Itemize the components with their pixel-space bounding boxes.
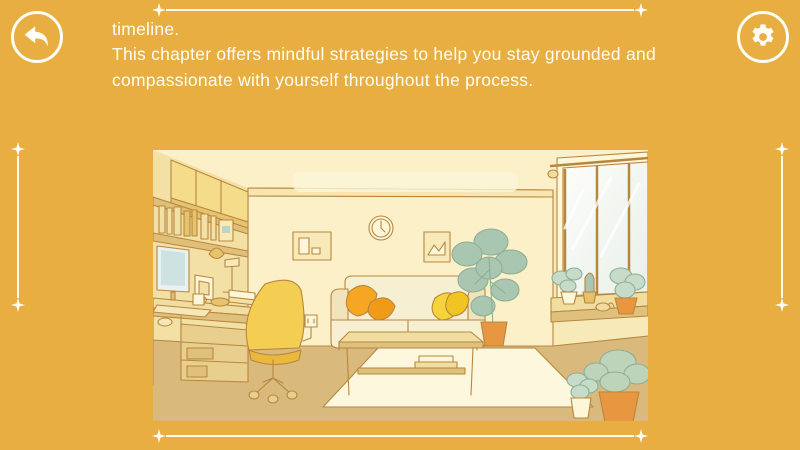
tidy-living-room-illustration (153, 150, 648, 421)
divider-line (17, 156, 19, 298)
star-icon (775, 298, 789, 312)
divider-line (166, 9, 634, 11)
paragraph: This chapter offers mindful strategies t… (112, 42, 692, 93)
app-root: Remember, decluttering is a personal jou… (0, 0, 800, 450)
chapter-text-scroll-area[interactable]: Remember, decluttering is a personal jou… (112, 14, 692, 136)
divider-line (781, 156, 783, 298)
back-arrow-icon (22, 24, 52, 50)
paragraph: Remember, decluttering is a personal jou… (112, 14, 692, 42)
star-icon (775, 142, 789, 156)
star-icon (152, 429, 166, 443)
right-divider (775, 142, 789, 312)
star-icon (634, 429, 648, 443)
bottom-divider (152, 429, 648, 443)
star-icon (11, 142, 25, 156)
gear-icon (749, 23, 777, 51)
back-button[interactable] (11, 11, 63, 63)
divider-line (166, 435, 634, 437)
left-divider (11, 142, 25, 312)
star-icon (11, 298, 25, 312)
settings-button[interactable] (737, 11, 789, 63)
chapter-text: Remember, decluttering is a personal jou… (112, 14, 692, 93)
